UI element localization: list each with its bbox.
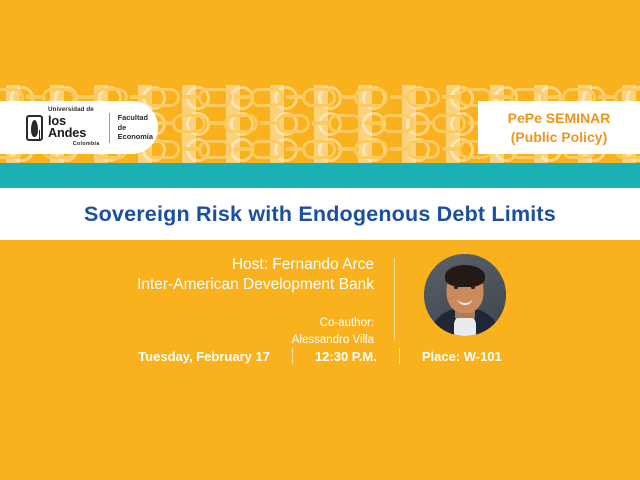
speaker-photo-divider	[394, 258, 395, 340]
chain-ring-icon	[276, 114, 310, 133]
faculty-wordmark: Facultad de Economía	[118, 113, 158, 143]
chain-link-bar-icon	[390, 147, 406, 151]
chain-ring-icon	[328, 114, 362, 133]
host-organization: Inter-American Development Bank	[0, 275, 374, 296]
chain-ring-icon	[250, 88, 284, 107]
chain-link-bar-icon	[78, 95, 94, 99]
chain-ring-icon	[354, 88, 388, 107]
details-separator-2	[399, 348, 400, 364]
page-title: Sovereign Risk with Endogenous Debt Limi…	[84, 202, 556, 227]
faculty-line-1: Facultad	[118, 113, 158, 123]
chain-link-bar-icon	[390, 95, 406, 99]
chain-ring-icon	[172, 114, 206, 133]
chain-link-bar-icon	[312, 121, 328, 125]
chain-ring-icon	[146, 88, 180, 107]
chain-link-bar-icon	[598, 95, 614, 99]
chain-link-bar-icon	[546, 95, 562, 99]
seminar-label-box: PePe SEMINAR (Public Policy)	[478, 101, 640, 154]
seminar-name: PePe SEMINAR	[508, 109, 611, 127]
chain-link-bar-icon	[338, 95, 354, 99]
chain-ring-icon	[354, 140, 388, 159]
chain-ring-icon	[198, 140, 232, 159]
speaker-avatar	[424, 254, 506, 336]
chain-link-bar-icon	[182, 147, 198, 151]
coauthor-block: Co-author: Alessandro Villa	[0, 315, 374, 348]
chain-link-bar-icon	[156, 121, 172, 125]
chain-link-bar-icon	[182, 95, 198, 99]
faculty-line-2: de Economía	[118, 123, 158, 143]
details-separator-1	[292, 348, 293, 364]
chain-link-bar-icon	[208, 121, 224, 125]
event-time: 12:30 P.M.	[315, 349, 377, 364]
avatar-eye-right	[471, 286, 475, 289]
logo-divider	[109, 113, 110, 143]
chain-ring-icon	[224, 114, 258, 133]
coauthor-label: Co-author:	[0, 315, 374, 332]
seminar-subtitle: (Public Policy)	[511, 128, 607, 146]
logo-wordmark: Universidad de los Andes Colombia	[48, 107, 100, 147]
chain-ring-icon	[302, 140, 336, 159]
event-place: Place: W-101	[422, 349, 502, 364]
coauthor-name: Alessandro Villa	[0, 332, 374, 349]
chain-ring-icon	[198, 88, 232, 107]
seminar-poster: Sovereign Risk with Endogenous Debt Limi…	[0, 0, 640, 480]
host-name: Host: Fernando Arce	[0, 255, 374, 275]
chain-link-bar-icon	[338, 147, 354, 151]
chain-ring-icon	[406, 140, 440, 159]
logo-line-los-andes: los Andes	[48, 115, 100, 141]
event-details-line: Tuesday, February 17 12:30 P.M. Place: W…	[0, 348, 640, 364]
chain-link-bar-icon	[442, 95, 458, 99]
chain-link-bar-icon	[416, 121, 432, 125]
chain-link-bar-icon	[234, 95, 250, 99]
university-logo-box: Universidad de los Andes Colombia Facult…	[0, 101, 158, 154]
logo-line-colombia: Colombia	[48, 142, 100, 147]
chain-link-bar-icon	[130, 95, 146, 99]
title-band: Sovereign Risk with Endogenous Debt Limi…	[0, 188, 640, 240]
chain-ring-icon	[302, 88, 336, 107]
universidad-de-los-andes-shield-icon	[26, 115, 43, 141]
chain-ring-icon	[432, 114, 466, 133]
chain-link-bar-icon	[494, 95, 510, 99]
chain-link-bar-icon	[442, 147, 458, 151]
avatar-eye-left	[454, 286, 458, 289]
chain-link-bar-icon	[26, 95, 42, 99]
event-date: Tuesday, February 17	[138, 349, 270, 364]
chain-link-bar-icon	[286, 95, 302, 99]
chain-link-bar-icon	[364, 121, 380, 125]
chain-ring-icon	[380, 114, 414, 133]
chain-ring-icon	[406, 88, 440, 107]
avatar-hair	[445, 265, 485, 287]
speaker-info-block: Host: Fernando Arce Inter-American Devel…	[0, 255, 394, 348]
chain-link-bar-icon	[286, 147, 302, 151]
chain-link-bar-icon	[260, 121, 276, 125]
chain-ring-icon	[250, 140, 284, 159]
teal-divider-band	[0, 163, 640, 188]
chain-link-bar-icon	[234, 147, 250, 151]
